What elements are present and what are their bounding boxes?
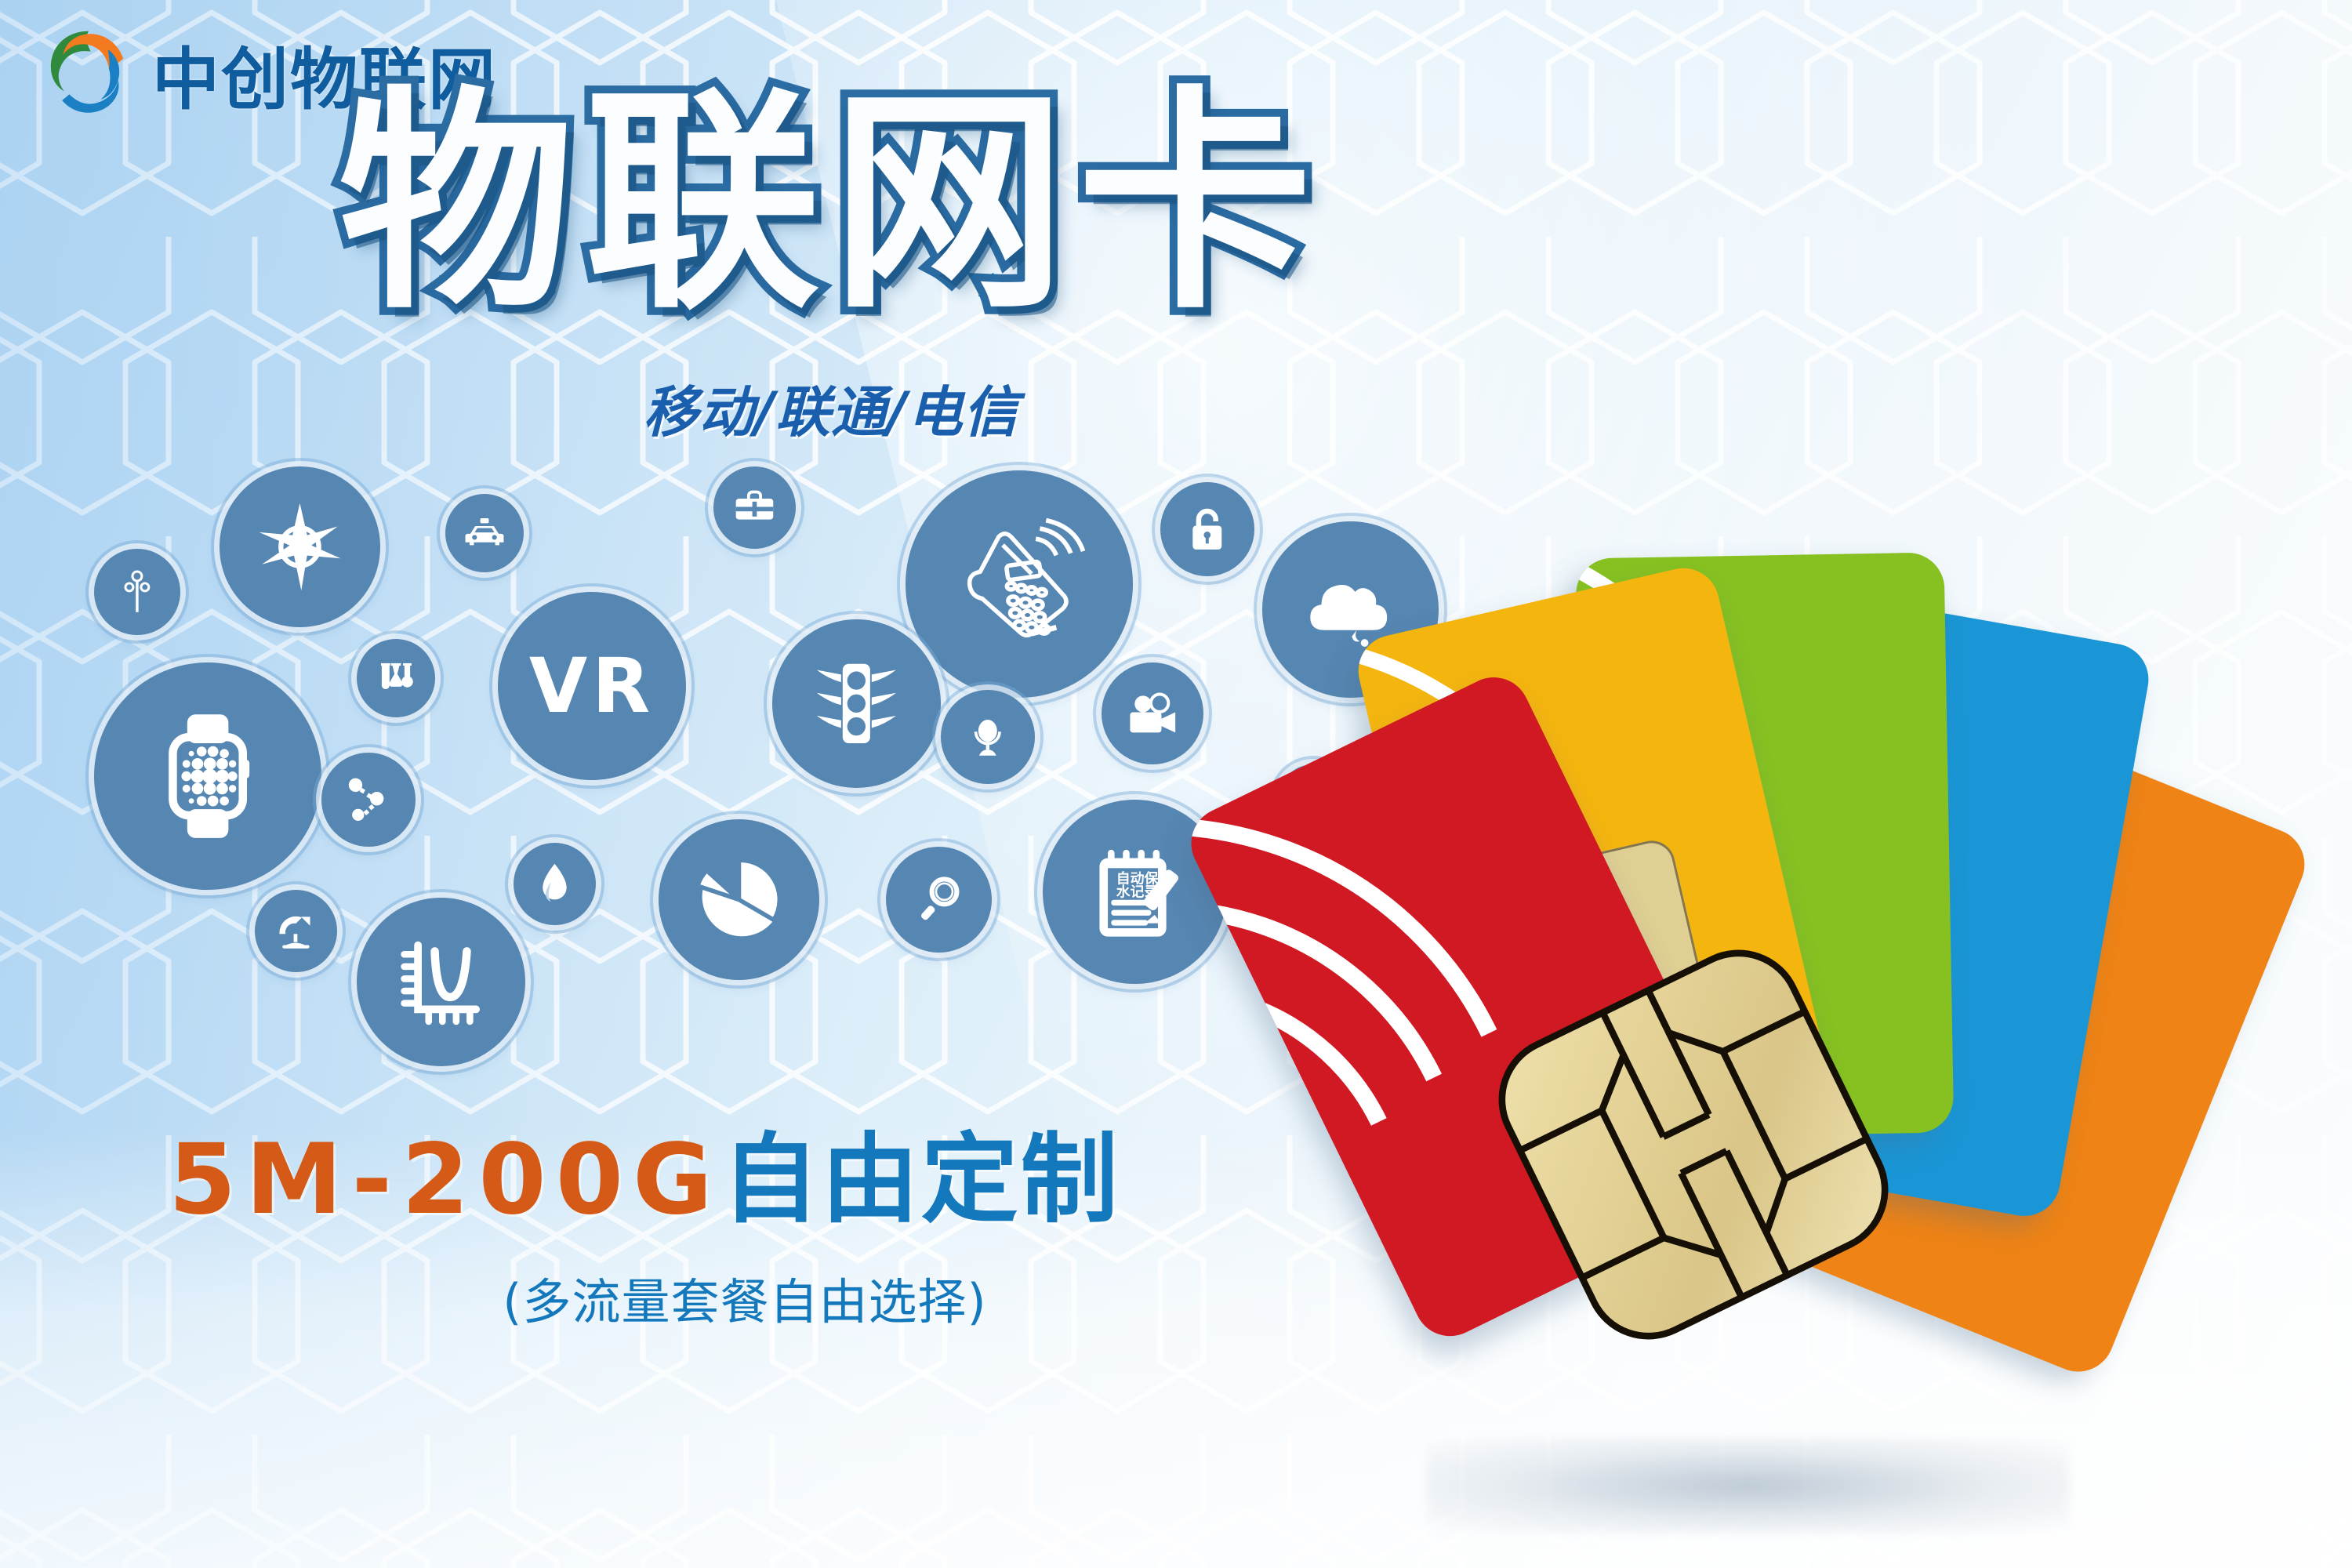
- sim-card-fan: [1254, 549, 2352, 1568]
- acupuncture-needle-icon[interactable]: [94, 549, 180, 635]
- poster-canvas: 中创物联网 物联网卡 移动/联通/电信: [0, 0, 2352, 1568]
- svg-text:水记录: 水记录: [1116, 884, 1159, 901]
- promo-note: (多流量套餐自由选择): [169, 1262, 1266, 1333]
- promo-block: 5M-200G自由定制 (多流量套餐自由选择): [169, 1129, 1266, 1333]
- pos-terminal-icon[interactable]: [906, 470, 1133, 698]
- card-ground-shadow: [1427, 1439, 2070, 1533]
- test-tubes-icon[interactable]: [357, 639, 435, 717]
- pie-chart-icon[interactable]: [659, 819, 819, 980]
- promo-amount: 5M-200G: [169, 1123, 722, 1236]
- traffic-light-icon[interactable]: [772, 619, 941, 788]
- satellite-dish-icon[interactable]: [255, 890, 337, 972]
- molecule-icon[interactable]: [321, 753, 416, 847]
- smartwatch-icon[interactable]: [94, 662, 321, 890]
- promo-headline: 5M-200G自由定制: [169, 1129, 1266, 1231]
- vr-label: VR: [529, 648, 655, 724]
- circuit-chip-icon[interactable]: [357, 898, 525, 1066]
- water-drop-icon[interactable]: [514, 843, 596, 925]
- video-camera-icon[interactable]: [1102, 662, 1203, 764]
- taxi-icon[interactable]: [445, 494, 524, 572]
- microphone-icon[interactable]: [941, 690, 1035, 784]
- promo-customize: 自由定制: [722, 1123, 1120, 1236]
- magnifier-icon[interactable]: [886, 847, 992, 953]
- vr-icon[interactable]: VR: [498, 592, 686, 780]
- medical-kit-icon[interactable]: [713, 466, 796, 549]
- padlock-icon[interactable]: [1160, 482, 1254, 576]
- compass-icon[interactable]: [220, 466, 380, 627]
